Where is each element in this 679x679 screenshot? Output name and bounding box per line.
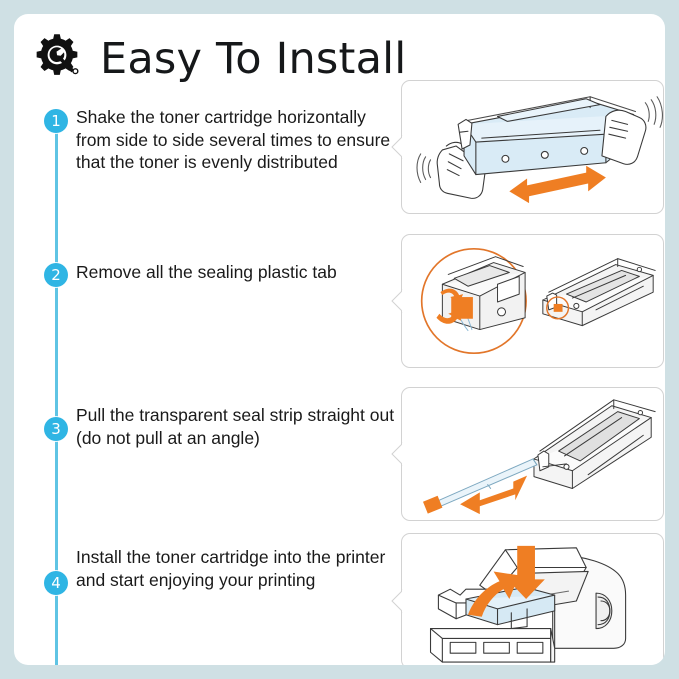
panel-notch xyxy=(391,136,403,158)
illustration-panel-step-4 xyxy=(401,533,664,665)
step-description: Shake the toner cartridge horizontally f… xyxy=(76,106,396,174)
panel-notch xyxy=(391,590,403,612)
step-number-badge: 3 xyxy=(44,417,68,441)
step-description: Pull the transparent seal strip straight… xyxy=(76,404,396,449)
step-description: Install the toner cartridge into the pri… xyxy=(76,546,396,591)
panel-notch xyxy=(391,290,403,312)
step-number-badge: 4 xyxy=(44,571,68,595)
printer-insertion-art xyxy=(402,534,663,665)
illustration-panel-step-3 xyxy=(401,387,664,521)
seal-strip-tab xyxy=(423,496,442,514)
step-number-badge: 1 xyxy=(44,109,68,133)
hands-shaking-toner-cartridge-art xyxy=(402,81,663,213)
illustration-panel-step-1 xyxy=(401,80,664,214)
step-number-badge: 2 xyxy=(44,263,68,287)
content-card: Easy To Install 1 Shake the toner cartri… xyxy=(14,14,665,665)
panel-notch xyxy=(391,443,403,465)
cartridge-with-seal-strip-art xyxy=(402,388,663,520)
cartridge-with-magnified-sealing-tab-art xyxy=(402,235,663,367)
infographic-page: Easy To Install 1 Shake the toner cartri… xyxy=(0,0,679,679)
illustration-panel-step-2 xyxy=(401,234,664,368)
shake-direction-arrow xyxy=(509,166,606,203)
step-description: Remove all the sealing plastic tab xyxy=(76,261,396,284)
sealing-tab-small xyxy=(554,304,563,312)
